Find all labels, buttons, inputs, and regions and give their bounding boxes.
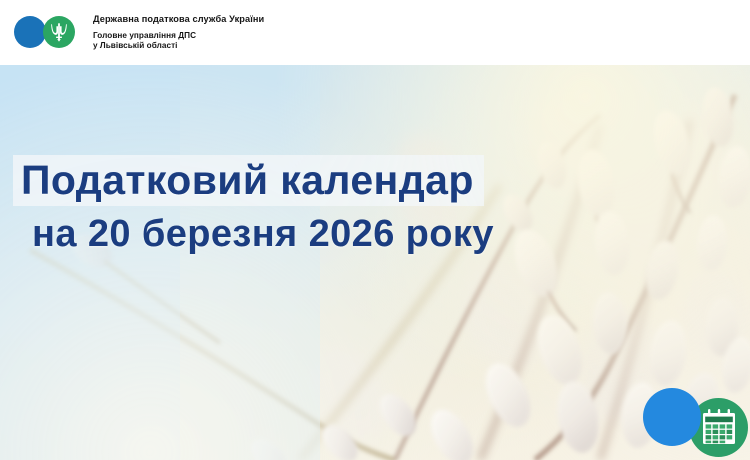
- hero-title: Податковий календар на 20 березня 2026 р…: [0, 155, 750, 255]
- agency-logo[interactable]: [14, 16, 80, 50]
- title-line-2: на 20 березня 2026 року: [32, 215, 750, 255]
- blue-dot-badge[interactable]: [643, 388, 701, 446]
- calendar-icon: [700, 408, 738, 446]
- department-line-2: у Львівській області: [93, 41, 264, 51]
- agency-wordmark: Державна податкова служба України Головн…: [93, 14, 264, 50]
- title-line-1: Податковий календар: [21, 159, 474, 202]
- department-line-1: Головне управління ДПС: [93, 31, 264, 41]
- header-bar: Державна податкова служба України Головн…: [0, 0, 750, 65]
- willow-photo-background: [0, 65, 750, 460]
- green-circle-tryzub-icon: [43, 16, 75, 48]
- organization-name: Державна податкова служба України: [93, 14, 264, 25]
- willow-branches-illustration: [0, 65, 750, 460]
- department-name: Головне управління ДПС у Львівській обла…: [93, 31, 264, 50]
- blue-circle-icon: [14, 16, 46, 48]
- tax-calendar-banner: Державна податкова служба України Головн…: [0, 0, 750, 460]
- title-highlight-band: Податковий календар: [13, 155, 484, 206]
